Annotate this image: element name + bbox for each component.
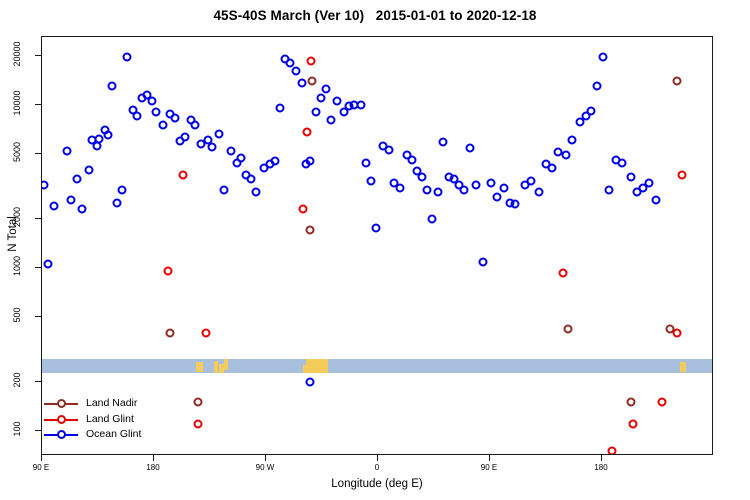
y-tick bbox=[35, 267, 41, 268]
legend-marker-land_nadir bbox=[57, 399, 66, 408]
world-map-band bbox=[42, 359, 712, 373]
data-point-ocean_glint bbox=[305, 157, 314, 166]
data-point-ocean_glint bbox=[332, 97, 341, 106]
chart-root: 45S-40S March (Ver 10) 2015-01-01 to 202… bbox=[0, 0, 750, 500]
data-point-land_glint bbox=[202, 328, 211, 337]
y-tick-label: 5000 bbox=[12, 135, 22, 169]
chart-title: 45S-40S March (Ver 10) 2015-01-01 to 202… bbox=[0, 8, 750, 23]
data-point-land_glint bbox=[193, 419, 202, 428]
data-point-ocean_glint bbox=[548, 163, 557, 172]
x-tick bbox=[265, 455, 266, 461]
legend-item-ocean_glint: Ocean Glint bbox=[44, 427, 166, 443]
data-point-ocean_glint bbox=[361, 158, 370, 167]
data-point-ocean_glint bbox=[44, 260, 53, 269]
data-point-ocean_glint bbox=[227, 146, 236, 155]
data-point-land_nadir bbox=[305, 226, 314, 235]
data-point-ocean_glint bbox=[651, 196, 660, 205]
data-point-ocean_glint bbox=[152, 108, 161, 117]
data-point-land_glint bbox=[657, 398, 666, 407]
data-point-land_nadir bbox=[308, 76, 317, 85]
data-point-ocean_glint bbox=[326, 116, 335, 125]
legend-label: Land Glint bbox=[86, 412, 134, 428]
data-point-ocean_glint bbox=[534, 188, 543, 197]
data-point-ocean_glint bbox=[291, 67, 300, 76]
data-point-ocean_glint bbox=[422, 185, 431, 194]
data-point-land_nadir bbox=[672, 76, 681, 85]
data-point-ocean_glint bbox=[617, 158, 626, 167]
land-patch bbox=[214, 361, 218, 373]
y-tick bbox=[35, 153, 41, 154]
data-point-land_glint bbox=[559, 268, 568, 277]
data-point-ocean_glint bbox=[487, 179, 496, 188]
x-tick bbox=[489, 455, 490, 461]
data-point-ocean_glint bbox=[107, 82, 116, 91]
data-point-ocean_glint bbox=[433, 188, 442, 197]
chart-legend: Land NadirLand GlintOcean Glint bbox=[44, 396, 166, 443]
x-tick-label: 0 bbox=[375, 463, 379, 472]
y-tick-label: 500 bbox=[12, 298, 22, 332]
data-point-ocean_glint bbox=[466, 144, 475, 153]
data-point-ocean_glint bbox=[77, 204, 86, 213]
x-tick bbox=[377, 455, 378, 461]
land-patch bbox=[196, 362, 203, 372]
data-point-ocean_glint bbox=[645, 179, 654, 188]
data-point-land_nadir bbox=[166, 328, 175, 337]
land-patch bbox=[224, 359, 228, 370]
data-point-land_glint bbox=[629, 419, 638, 428]
data-point-ocean_glint bbox=[417, 173, 426, 182]
data-point-ocean_glint bbox=[158, 121, 167, 130]
data-point-ocean_glint bbox=[510, 200, 519, 209]
legend-marker-land_glint bbox=[57, 415, 66, 424]
y-tick-label: 100 bbox=[12, 412, 22, 446]
data-point-ocean_glint bbox=[72, 174, 81, 183]
x-tick-label: 180 bbox=[146, 463, 159, 472]
x-tick-label: 180 bbox=[594, 463, 607, 472]
data-point-ocean_glint bbox=[427, 214, 436, 223]
data-point-land_glint bbox=[672, 328, 681, 337]
legend-label: Ocean Glint bbox=[86, 427, 141, 443]
legend-item-land_glint: Land Glint bbox=[44, 412, 166, 428]
data-point-ocean_glint bbox=[191, 121, 200, 130]
data-point-ocean_glint bbox=[371, 224, 380, 233]
data-point-ocean_glint bbox=[586, 106, 595, 115]
data-point-ocean_glint bbox=[407, 155, 416, 164]
data-point-ocean_glint bbox=[252, 188, 261, 197]
y-tick-label: 2000 bbox=[12, 200, 22, 234]
data-point-ocean_glint bbox=[171, 113, 180, 122]
data-point-ocean_glint bbox=[41, 181, 49, 190]
y-tick bbox=[35, 104, 41, 105]
data-point-ocean_glint bbox=[438, 138, 447, 147]
y-tick-label: 200 bbox=[12, 363, 22, 397]
y-tick bbox=[35, 316, 41, 317]
land-patch bbox=[303, 365, 311, 373]
data-point-ocean_glint bbox=[311, 108, 320, 117]
data-point-ocean_glint bbox=[298, 79, 307, 88]
data-point-ocean_glint bbox=[396, 183, 405, 192]
data-point-ocean_glint bbox=[237, 154, 246, 163]
data-point-ocean_glint bbox=[593, 82, 602, 91]
data-point-ocean_glint bbox=[561, 151, 570, 160]
data-point-land_glint bbox=[163, 267, 172, 276]
data-point-ocean_glint bbox=[62, 146, 71, 155]
y-tick-label: 1000 bbox=[12, 249, 22, 283]
data-point-ocean_glint bbox=[219, 185, 228, 194]
data-point-ocean_glint bbox=[316, 93, 325, 102]
data-point-land_glint bbox=[303, 127, 312, 136]
data-point-ocean_glint bbox=[117, 185, 126, 194]
data-point-ocean_glint bbox=[599, 53, 608, 62]
data-point-ocean_glint bbox=[472, 181, 481, 190]
data-point-ocean_glint bbox=[147, 97, 156, 106]
data-point-ocean_glint bbox=[247, 174, 256, 183]
data-point-ocean_glint bbox=[568, 135, 577, 144]
data-point-land_glint bbox=[299, 204, 308, 213]
data-point-ocean_glint bbox=[132, 112, 141, 121]
data-point-ocean_glint bbox=[527, 177, 536, 186]
data-point-ocean_glint bbox=[605, 185, 614, 194]
data-point-land_glint bbox=[677, 171, 686, 180]
legend-item-land_nadir: Land Nadir bbox=[44, 396, 166, 412]
data-point-ocean_glint bbox=[66, 196, 75, 205]
data-point-land_glint bbox=[306, 57, 315, 66]
data-point-ocean_glint bbox=[122, 53, 131, 62]
x-tick-label: 90 E bbox=[33, 463, 49, 472]
data-point-ocean_glint bbox=[385, 145, 394, 154]
x-tick bbox=[153, 455, 154, 461]
data-point-ocean_glint bbox=[95, 134, 104, 143]
y-tick-label: 20000 bbox=[12, 37, 22, 71]
x-tick bbox=[601, 455, 602, 461]
y-tick bbox=[35, 218, 41, 219]
data-point-ocean_glint bbox=[214, 130, 223, 139]
data-point-ocean_glint bbox=[275, 104, 284, 113]
data-point-ocean_glint bbox=[285, 59, 294, 68]
y-tick bbox=[35, 55, 41, 56]
data-point-ocean_glint bbox=[626, 173, 635, 182]
data-point-ocean_glint bbox=[499, 183, 508, 192]
legend-marker-ocean_glint bbox=[57, 430, 66, 439]
data-point-land_nadir bbox=[193, 398, 202, 407]
data-point-ocean_glint bbox=[356, 100, 365, 109]
data-point-ocean_glint bbox=[112, 198, 121, 207]
data-point-ocean_glint bbox=[270, 157, 279, 166]
data-point-ocean_glint bbox=[459, 185, 468, 194]
x-axis-title: Longitude (deg E) bbox=[41, 478, 713, 490]
data-point-ocean_glint bbox=[493, 193, 502, 202]
data-point-ocean_glint bbox=[305, 377, 314, 386]
data-point-ocean_glint bbox=[50, 201, 59, 210]
y-tick bbox=[35, 381, 41, 382]
x-tick bbox=[41, 455, 42, 461]
data-point-ocean_glint bbox=[85, 165, 94, 174]
data-point-land_glint bbox=[178, 171, 187, 180]
data-point-ocean_glint bbox=[181, 133, 190, 142]
land-patch bbox=[680, 362, 686, 372]
data-point-land_glint bbox=[607, 447, 616, 455]
data-point-land_nadir bbox=[626, 398, 635, 407]
plot-area bbox=[41, 36, 713, 455]
x-tick-label: 90 W bbox=[256, 463, 275, 472]
y-tick bbox=[35, 430, 41, 431]
legend-label: Land Nadir bbox=[86, 396, 137, 412]
data-point-ocean_glint bbox=[366, 177, 375, 186]
data-point-ocean_glint bbox=[478, 258, 487, 267]
data-point-land_nadir bbox=[564, 325, 573, 334]
data-point-ocean_glint bbox=[103, 131, 112, 140]
data-point-ocean_glint bbox=[321, 84, 330, 93]
x-tick-label: 90 E bbox=[481, 463, 497, 472]
y-tick-label: 10000 bbox=[12, 86, 22, 120]
data-point-ocean_glint bbox=[208, 142, 217, 151]
